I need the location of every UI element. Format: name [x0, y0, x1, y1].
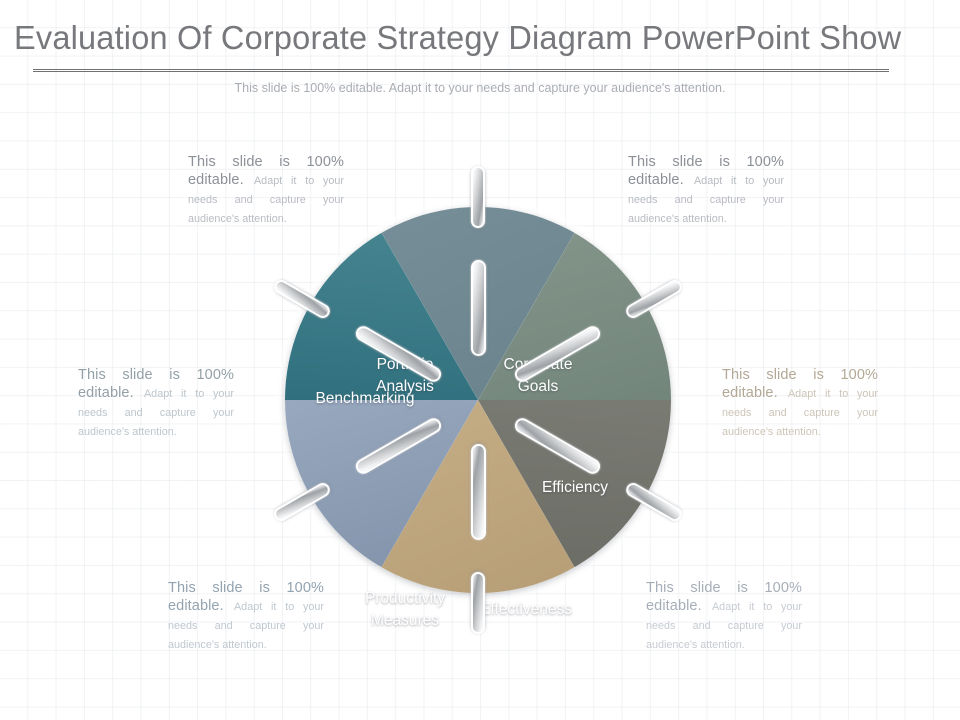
caption-lead-text: This slide is 100%: [78, 367, 234, 383]
corporate-strategy-wheel: Corporate Goals Efficiency Effectiveness…: [253, 175, 703, 625]
caption-middle-left: This slide is 100% editable. Adapt it to…: [78, 366, 234, 441]
caption-lead-text: This slide is 100%: [188, 154, 344, 170]
caption-lead-text-2: editable.: [722, 385, 778, 401]
outer-divider-capsule[interactable]: [471, 572, 485, 634]
inner-divider-capsule[interactable]: [471, 260, 486, 356]
slide-canvas: Evaluation Of Corporate Strategy Diagram…: [0, 0, 960, 720]
caption-lead-text: This slide is 100%: [628, 154, 784, 170]
caption-lead-text-2: editable.: [168, 598, 224, 614]
caption-lead-text-2: editable.: [188, 172, 244, 188]
inner-divider-capsule[interactable]: [471, 444, 486, 540]
outer-divider-capsule[interactable]: [471, 166, 485, 228]
title-divider-rule: [33, 69, 889, 72]
caption-lead-text-2: editable.: [78, 385, 134, 401]
caption-lead-text: This slide is 100%: [722, 367, 878, 383]
page-title: Evaluation Of Corporate Strategy Diagram…: [14, 18, 935, 58]
slide-subtitle: This slide is 100% editable. Adapt it to…: [0, 81, 960, 95]
caption-middle-right: This slide is 100% editable. Adapt it to…: [722, 366, 878, 441]
